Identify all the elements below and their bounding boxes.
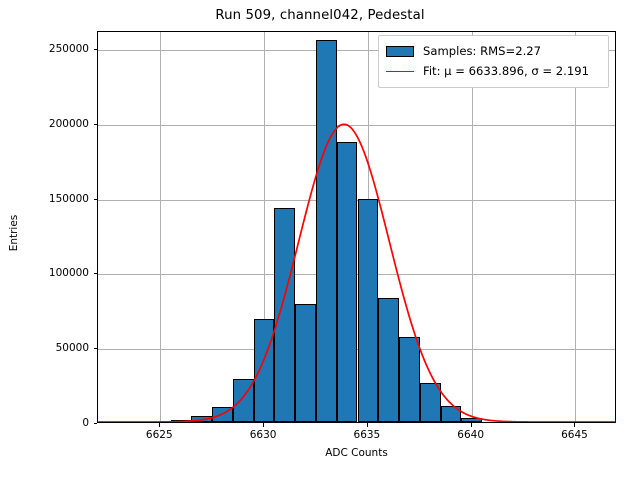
legend-swatch-samples bbox=[386, 46, 414, 57]
plot-area bbox=[97, 31, 616, 423]
y-tick-label: 250000 bbox=[49, 43, 89, 55]
y-tick-mark bbox=[94, 199, 98, 200]
x-tick-label: 6635 bbox=[354, 429, 381, 441]
figure-canvas: Run 509, channel042, Pedestal 6625663066… bbox=[0, 0, 640, 480]
y-tick-label: 100000 bbox=[49, 267, 89, 279]
legend-label-samples: Samples: RMS=2.27 bbox=[423, 44, 541, 58]
y-tick-mark bbox=[94, 348, 98, 349]
x-tick-mark bbox=[159, 423, 160, 427]
y-tick-label: 50000 bbox=[56, 342, 89, 354]
y-axis-label: Entries bbox=[8, 203, 20, 263]
y-tick-mark bbox=[94, 423, 98, 424]
x-tick-mark bbox=[367, 423, 368, 427]
chart-legend: Samples: RMS=2.27 Fit: μ = 6633.896, σ =… bbox=[378, 35, 609, 88]
x-tick-label: 6625 bbox=[146, 429, 173, 441]
x-axis-label: ADC Counts bbox=[97, 447, 616, 459]
legend-label-fit: Fit: μ = 6633.896, σ = 2.191 bbox=[423, 64, 589, 78]
x-tick-label: 6640 bbox=[457, 429, 484, 441]
legend-swatch-fit bbox=[386, 71, 414, 72]
y-tick-label: 200000 bbox=[49, 118, 89, 130]
x-tick-label: 6645 bbox=[561, 429, 588, 441]
x-tick-label: 6630 bbox=[250, 429, 277, 441]
legend-entry-samples: Samples: RMS=2.27 bbox=[386, 41, 601, 61]
legend-entry-fit: Fit: μ = 6633.896, σ = 2.191 bbox=[386, 61, 601, 81]
y-tick-mark bbox=[94, 124, 98, 125]
x-tick-mark bbox=[574, 423, 575, 427]
chart-title: Run 509, channel042, Pedestal bbox=[0, 8, 640, 23]
y-tick-label: 0 bbox=[82, 417, 89, 429]
y-tick-mark bbox=[94, 273, 98, 274]
y-tick-mark bbox=[94, 49, 98, 50]
y-tick-label: 150000 bbox=[49, 193, 89, 205]
fit-path bbox=[98, 124, 615, 422]
x-tick-mark bbox=[263, 423, 264, 427]
gaussian-fit-curve bbox=[98, 32, 615, 422]
x-tick-mark bbox=[471, 423, 472, 427]
